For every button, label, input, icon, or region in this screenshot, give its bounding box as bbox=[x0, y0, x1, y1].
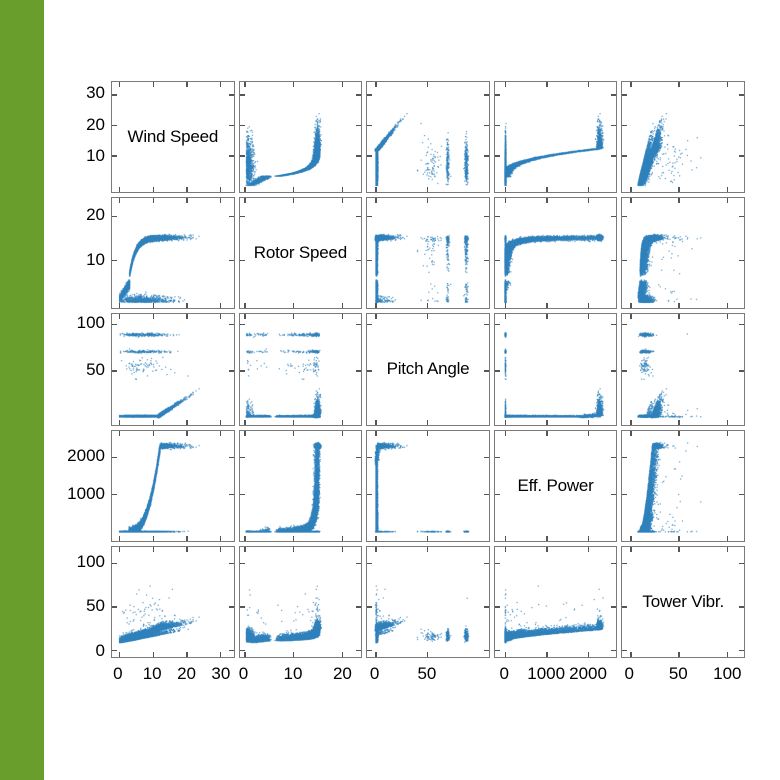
axis-tick-mark bbox=[505, 187, 506, 192]
axis-tick-mark bbox=[588, 536, 589, 541]
variable-name-label: Rotor Speed bbox=[240, 198, 362, 308]
axis-tick-mark bbox=[356, 650, 361, 651]
axis-tick-mark bbox=[153, 536, 154, 541]
y-tick-label: 50 bbox=[86, 360, 105, 380]
axis-tick-mark bbox=[367, 494, 372, 495]
axis-tick-mark bbox=[220, 431, 221, 436]
axis-tick-mark bbox=[112, 606, 117, 607]
axis-tick-mark bbox=[611, 606, 616, 607]
axis-tick-mark bbox=[220, 82, 221, 87]
axis-tick-mark bbox=[484, 457, 489, 458]
axis-tick-mark bbox=[427, 652, 428, 657]
axis-tick-mark bbox=[505, 198, 506, 203]
x-tick-label: 0 bbox=[625, 664, 634, 684]
axis-tick-mark bbox=[229, 370, 234, 371]
axis-tick-mark bbox=[342, 198, 343, 203]
axis-tick-mark bbox=[186, 431, 187, 436]
axis-tick-mark bbox=[342, 187, 343, 192]
axis-tick-mark bbox=[622, 370, 627, 371]
axis-tick-mark bbox=[427, 303, 428, 308]
axis-tick-mark bbox=[505, 547, 506, 552]
axis-tick-mark bbox=[727, 198, 728, 203]
axis-tick-mark bbox=[678, 547, 679, 552]
axis-tick-mark bbox=[375, 536, 376, 541]
x-tick-label: 30 bbox=[211, 664, 230, 684]
axis-tick-mark bbox=[119, 198, 120, 203]
axis-tick-mark bbox=[588, 652, 589, 657]
axis-tick-mark bbox=[356, 94, 361, 95]
axis-tick-mark bbox=[739, 457, 744, 458]
axis-tick-mark bbox=[546, 652, 547, 657]
axis-tick-mark bbox=[739, 494, 744, 495]
y-tick-label: 2000 bbox=[67, 446, 105, 466]
axis-tick-mark bbox=[495, 155, 500, 156]
scatter-panel-r2-c3 bbox=[366, 197, 490, 309]
axis-tick-mark bbox=[678, 198, 679, 203]
x-tick-label: 0 bbox=[370, 664, 379, 684]
axis-tick-mark bbox=[244, 431, 245, 436]
axis-tick-mark bbox=[367, 370, 372, 371]
axis-tick-mark bbox=[630, 536, 631, 541]
axis-tick-mark bbox=[229, 494, 234, 495]
axis-tick-mark bbox=[546, 198, 547, 203]
axis-tick-mark bbox=[611, 650, 616, 651]
axis-tick-mark bbox=[484, 155, 489, 156]
axis-tick-mark bbox=[244, 420, 245, 425]
axis-tick-mark bbox=[484, 324, 489, 325]
axis-tick-mark bbox=[186, 198, 187, 203]
axis-tick-mark bbox=[229, 260, 234, 261]
axis-tick-mark bbox=[611, 563, 616, 564]
axis-tick-mark bbox=[186, 652, 187, 657]
scatter-panel-r1-c5 bbox=[621, 81, 745, 193]
axis-tick-mark bbox=[153, 82, 154, 87]
x-tick-label: 1000 bbox=[527, 664, 565, 684]
axis-tick-mark bbox=[375, 547, 376, 552]
axis-tick-mark bbox=[622, 94, 627, 95]
axis-tick-mark bbox=[119, 303, 120, 308]
scatter-panel-r4-c1 bbox=[111, 430, 235, 542]
scatter-canvas bbox=[367, 547, 489, 657]
axis-tick-mark bbox=[495, 606, 500, 607]
axis-tick-mark bbox=[367, 125, 372, 126]
axis-tick-mark bbox=[342, 420, 343, 425]
axis-tick-mark bbox=[739, 94, 744, 95]
axis-tick-mark bbox=[427, 314, 428, 319]
axis-tick-mark bbox=[622, 260, 627, 261]
axis-tick-mark bbox=[153, 198, 154, 203]
axis-tick-mark bbox=[678, 82, 679, 87]
axis-tick-mark bbox=[611, 216, 616, 217]
axis-tick-mark bbox=[375, 82, 376, 87]
axis-tick-mark bbox=[240, 260, 245, 261]
axis-tick-mark bbox=[186, 187, 187, 192]
axis-tick-mark bbox=[505, 652, 506, 657]
axis-tick-mark bbox=[153, 303, 154, 308]
axis-tick-mark bbox=[356, 324, 361, 325]
axis-tick-mark bbox=[244, 198, 245, 203]
axis-tick-mark bbox=[505, 303, 506, 308]
axis-tick-mark bbox=[630, 652, 631, 657]
scatter-panel-r2-c5 bbox=[621, 197, 745, 309]
axis-tick-mark bbox=[622, 563, 627, 564]
scatter-canvas bbox=[112, 314, 234, 424]
axis-tick-mark bbox=[727, 547, 728, 552]
axis-tick-mark bbox=[367, 457, 372, 458]
axis-tick-mark bbox=[367, 563, 372, 564]
axis-tick-mark bbox=[112, 260, 117, 261]
axis-tick-mark bbox=[611, 155, 616, 156]
axis-tick-mark bbox=[356, 155, 361, 156]
diagonal-panel-1: Wind Speed bbox=[111, 81, 235, 193]
green-accent-band bbox=[0, 0, 44, 780]
axis-tick-mark bbox=[244, 536, 245, 541]
axis-tick-mark bbox=[240, 216, 245, 217]
axis-tick-mark bbox=[546, 536, 547, 541]
scatter-canvas bbox=[367, 82, 489, 192]
axis-tick-mark bbox=[727, 314, 728, 319]
axis-tick-mark bbox=[546, 314, 547, 319]
scatter-canvas bbox=[112, 198, 234, 308]
axis-tick-mark bbox=[229, 125, 234, 126]
axis-tick-mark bbox=[505, 82, 506, 87]
axis-tick-mark bbox=[630, 314, 631, 319]
scatter-canvas bbox=[112, 547, 234, 657]
axis-tick-mark bbox=[611, 494, 616, 495]
axis-tick-mark bbox=[293, 431, 294, 436]
axis-tick-mark bbox=[495, 563, 500, 564]
axis-tick-mark bbox=[727, 652, 728, 657]
axis-tick-mark bbox=[220, 652, 221, 657]
axis-tick-mark bbox=[220, 547, 221, 552]
axis-tick-mark bbox=[546, 187, 547, 192]
axis-tick-mark bbox=[611, 457, 616, 458]
axis-tick-mark bbox=[588, 303, 589, 308]
axis-tick-mark bbox=[427, 547, 428, 552]
axis-tick-mark bbox=[495, 216, 500, 217]
axis-tick-mark bbox=[611, 94, 616, 95]
axis-tick-mark bbox=[495, 494, 500, 495]
axis-tick-mark bbox=[588, 431, 589, 436]
axis-tick-mark bbox=[342, 303, 343, 308]
axis-tick-mark bbox=[630, 547, 631, 552]
axis-tick-mark bbox=[622, 457, 627, 458]
axis-tick-mark bbox=[229, 650, 234, 651]
scatter-canvas bbox=[495, 82, 617, 192]
axis-tick-mark bbox=[112, 125, 117, 126]
axis-tick-mark bbox=[611, 370, 616, 371]
axis-tick-mark bbox=[112, 155, 117, 156]
axis-tick-mark bbox=[367, 650, 372, 651]
axis-tick-mark bbox=[356, 125, 361, 126]
scatter-canvas bbox=[495, 547, 617, 657]
axis-tick-mark bbox=[356, 606, 361, 607]
axis-tick-mark bbox=[153, 420, 154, 425]
variable-name-label: Pitch Angle bbox=[367, 314, 489, 424]
axis-tick-mark bbox=[484, 606, 489, 607]
y-tick-label: 50 bbox=[86, 596, 105, 616]
scatter-canvas bbox=[240, 431, 362, 541]
axis-tick-mark bbox=[630, 431, 631, 436]
axis-tick-mark bbox=[546, 420, 547, 425]
axis-tick-mark bbox=[727, 431, 728, 436]
axis-tick-mark bbox=[153, 547, 154, 552]
axis-tick-mark bbox=[588, 82, 589, 87]
scatter-canvas bbox=[367, 198, 489, 308]
scatter-canvas bbox=[240, 314, 362, 424]
axis-tick-mark bbox=[342, 314, 343, 319]
x-tick-label: 20 bbox=[177, 664, 196, 684]
x-tick-label: 2000 bbox=[569, 664, 607, 684]
axis-tick-mark bbox=[630, 420, 631, 425]
diagonal-panel-2: Rotor Speed bbox=[239, 197, 363, 309]
axis-tick-mark bbox=[112, 216, 117, 217]
axis-tick-mark bbox=[367, 606, 372, 607]
axis-tick-mark bbox=[244, 187, 245, 192]
axis-tick-mark bbox=[240, 125, 245, 126]
scatter-canvas bbox=[622, 431, 744, 541]
y-tick-label: 30 bbox=[86, 83, 105, 103]
axis-tick-mark bbox=[588, 420, 589, 425]
axis-tick-mark bbox=[367, 216, 372, 217]
axis-tick-mark bbox=[229, 324, 234, 325]
x-tick-label: 10 bbox=[284, 664, 303, 684]
axis-tick-mark bbox=[484, 563, 489, 564]
axis-tick-mark bbox=[739, 650, 744, 651]
scatter-canvas bbox=[495, 198, 617, 308]
axis-tick-mark bbox=[588, 198, 589, 203]
axis-tick-mark bbox=[727, 536, 728, 541]
variable-name-label: Eff. Power bbox=[495, 431, 617, 541]
axis-tick-mark bbox=[727, 82, 728, 87]
axis-tick-mark bbox=[484, 125, 489, 126]
axis-tick-mark bbox=[240, 94, 245, 95]
axis-tick-mark bbox=[739, 563, 744, 564]
scatter-panel-r1-c3 bbox=[366, 81, 490, 193]
x-tick-label: 10 bbox=[143, 664, 162, 684]
axis-tick-mark bbox=[505, 420, 506, 425]
x-tick-label: 100 bbox=[713, 664, 741, 684]
axis-tick-mark bbox=[153, 314, 154, 319]
variable-name-label: Tower Vibr. bbox=[622, 547, 744, 657]
axis-tick-mark bbox=[727, 187, 728, 192]
axis-tick-mark bbox=[727, 420, 728, 425]
axis-tick-mark bbox=[112, 494, 117, 495]
axis-tick-mark bbox=[356, 457, 361, 458]
axis-tick-mark bbox=[119, 536, 120, 541]
scatter-canvas bbox=[367, 431, 489, 541]
scatter-canvas bbox=[112, 431, 234, 541]
y-tick-label: 20 bbox=[86, 115, 105, 135]
x-tick-label: 50 bbox=[417, 664, 436, 684]
scatter-canvas bbox=[240, 547, 362, 657]
axis-tick-mark bbox=[495, 94, 500, 95]
axis-tick-mark bbox=[630, 82, 631, 87]
axis-tick-mark bbox=[367, 324, 372, 325]
axis-tick-mark bbox=[495, 650, 500, 651]
axis-tick-mark bbox=[240, 563, 245, 564]
scatter-panel-r2-c4 bbox=[494, 197, 618, 309]
axis-tick-mark bbox=[119, 547, 120, 552]
axis-tick-mark bbox=[630, 303, 631, 308]
axis-tick-mark bbox=[505, 431, 506, 436]
axis-tick-mark bbox=[727, 303, 728, 308]
y-tick-label: 10 bbox=[86, 146, 105, 166]
axis-tick-mark bbox=[622, 125, 627, 126]
diagonal-panel-5: Tower Vibr. bbox=[621, 546, 745, 658]
axis-tick-mark bbox=[611, 125, 616, 126]
axis-tick-mark bbox=[112, 563, 117, 564]
axis-tick-mark bbox=[186, 547, 187, 552]
y-tick-label: 0 bbox=[96, 641, 105, 661]
axis-tick-mark bbox=[229, 457, 234, 458]
axis-tick-mark bbox=[739, 216, 744, 217]
axis-tick-mark bbox=[220, 420, 221, 425]
x-tick-label: 50 bbox=[669, 664, 688, 684]
axis-tick-mark bbox=[244, 547, 245, 552]
axis-tick-mark bbox=[678, 536, 679, 541]
y-tick-label: 100 bbox=[77, 313, 105, 333]
axis-tick-mark bbox=[240, 155, 245, 156]
scatter-canvas bbox=[495, 314, 617, 424]
axis-tick-mark bbox=[342, 431, 343, 436]
axis-tick-mark bbox=[240, 457, 245, 458]
axis-tick-mark bbox=[484, 216, 489, 217]
scatter-panel-r5-c2 bbox=[239, 546, 363, 658]
axis-tick-mark bbox=[367, 155, 372, 156]
axis-tick-mark bbox=[240, 650, 245, 651]
axis-tick-mark bbox=[505, 536, 506, 541]
axis-tick-mark bbox=[244, 314, 245, 319]
diagonal-panel-4: Eff. Power bbox=[494, 430, 618, 542]
axis-tick-mark bbox=[293, 303, 294, 308]
axis-tick-mark bbox=[293, 187, 294, 192]
axis-tick-mark bbox=[186, 303, 187, 308]
axis-tick-mark bbox=[356, 370, 361, 371]
axis-tick-mark bbox=[630, 198, 631, 203]
axis-tick-mark bbox=[427, 431, 428, 436]
axis-tick-mark bbox=[546, 431, 547, 436]
axis-tick-mark bbox=[244, 303, 245, 308]
axis-tick-mark bbox=[427, 198, 428, 203]
scatter-panel-r3-c5 bbox=[621, 313, 745, 425]
axis-tick-mark bbox=[678, 652, 679, 657]
axis-tick-mark bbox=[153, 652, 154, 657]
axis-tick-mark bbox=[375, 652, 376, 657]
scatter-canvas bbox=[622, 198, 744, 308]
y-tick-label: 100 bbox=[77, 552, 105, 572]
axis-tick-mark bbox=[112, 94, 117, 95]
axis-tick-mark bbox=[484, 494, 489, 495]
axis-tick-mark bbox=[220, 303, 221, 308]
axis-tick-mark bbox=[739, 324, 744, 325]
axis-tick-mark bbox=[220, 536, 221, 541]
axis-tick-mark bbox=[356, 563, 361, 564]
y-tick-label: 20 bbox=[86, 205, 105, 225]
axis-tick-mark bbox=[484, 94, 489, 95]
scatter-panel-r3-c2 bbox=[239, 313, 363, 425]
axis-tick-mark bbox=[495, 324, 500, 325]
axis-tick-mark bbox=[739, 260, 744, 261]
axis-tick-mark bbox=[119, 187, 120, 192]
axis-tick-mark bbox=[342, 652, 343, 657]
axis-tick-mark bbox=[119, 314, 120, 319]
axis-tick-mark bbox=[119, 431, 120, 436]
axis-tick-mark bbox=[495, 370, 500, 371]
axis-tick-mark bbox=[588, 547, 589, 552]
axis-tick-mark bbox=[240, 324, 245, 325]
axis-tick-mark bbox=[356, 216, 361, 217]
axis-tick-mark bbox=[622, 216, 627, 217]
axis-tick-mark bbox=[119, 82, 120, 87]
axis-tick-mark bbox=[678, 314, 679, 319]
axis-tick-mark bbox=[375, 431, 376, 436]
scatter-panel-r5-c3 bbox=[366, 546, 490, 658]
axis-tick-mark bbox=[186, 314, 187, 319]
axis-tick-mark bbox=[356, 494, 361, 495]
axis-tick-mark bbox=[484, 370, 489, 371]
axis-tick-mark bbox=[240, 494, 245, 495]
axis-tick-mark bbox=[588, 187, 589, 192]
axis-tick-mark bbox=[342, 536, 343, 541]
scatter-panel-r1-c2 bbox=[239, 81, 363, 193]
axis-tick-mark bbox=[293, 82, 294, 87]
axis-tick-mark bbox=[678, 420, 679, 425]
axis-tick-mark bbox=[622, 650, 627, 651]
axis-tick-mark bbox=[622, 155, 627, 156]
scatter-panel-r4-c3 bbox=[366, 430, 490, 542]
axis-tick-mark bbox=[484, 260, 489, 261]
axis-tick-mark bbox=[622, 494, 627, 495]
scatter-plot-matrix-figure: 10203010205010010002000050100 0102030010… bbox=[0, 0, 780, 780]
axis-tick-mark bbox=[375, 420, 376, 425]
axis-tick-mark bbox=[611, 260, 616, 261]
axis-tick-mark bbox=[678, 303, 679, 308]
scatter-panel-r5-c4 bbox=[494, 546, 618, 658]
axis-tick-mark bbox=[367, 94, 372, 95]
axis-tick-mark bbox=[588, 314, 589, 319]
axis-tick-mark bbox=[546, 82, 547, 87]
axis-tick-mark bbox=[739, 125, 744, 126]
axis-tick-mark bbox=[622, 324, 627, 325]
scatter-panel-r2-c1 bbox=[111, 197, 235, 309]
axis-tick-mark bbox=[112, 457, 117, 458]
axis-tick-mark bbox=[546, 547, 547, 552]
axis-tick-mark bbox=[229, 606, 234, 607]
axis-tick-mark bbox=[495, 125, 500, 126]
axis-tick-mark bbox=[495, 260, 500, 261]
x-tick-label: 0 bbox=[500, 664, 509, 684]
axis-tick-mark bbox=[622, 606, 627, 607]
axis-tick-mark bbox=[229, 563, 234, 564]
axis-tick-mark bbox=[293, 547, 294, 552]
x-tick-label: 20 bbox=[333, 664, 352, 684]
y-tick-label: 10 bbox=[86, 250, 105, 270]
axis-tick-mark bbox=[427, 82, 428, 87]
axis-tick-mark bbox=[293, 420, 294, 425]
axis-tick-mark bbox=[630, 187, 631, 192]
axis-tick-mark bbox=[186, 536, 187, 541]
scatter-canvas bbox=[622, 314, 744, 424]
x-tick-label: 0 bbox=[113, 664, 122, 684]
axis-tick-mark bbox=[293, 314, 294, 319]
axis-tick-mark bbox=[505, 314, 506, 319]
pairplot-matrix: Wind SpeedRotor SpeedPitch AngleEff. Pow… bbox=[111, 81, 745, 658]
axis-tick-mark bbox=[186, 420, 187, 425]
axis-tick-mark bbox=[356, 260, 361, 261]
axis-tick-mark bbox=[375, 314, 376, 319]
axis-tick-mark bbox=[427, 536, 428, 541]
